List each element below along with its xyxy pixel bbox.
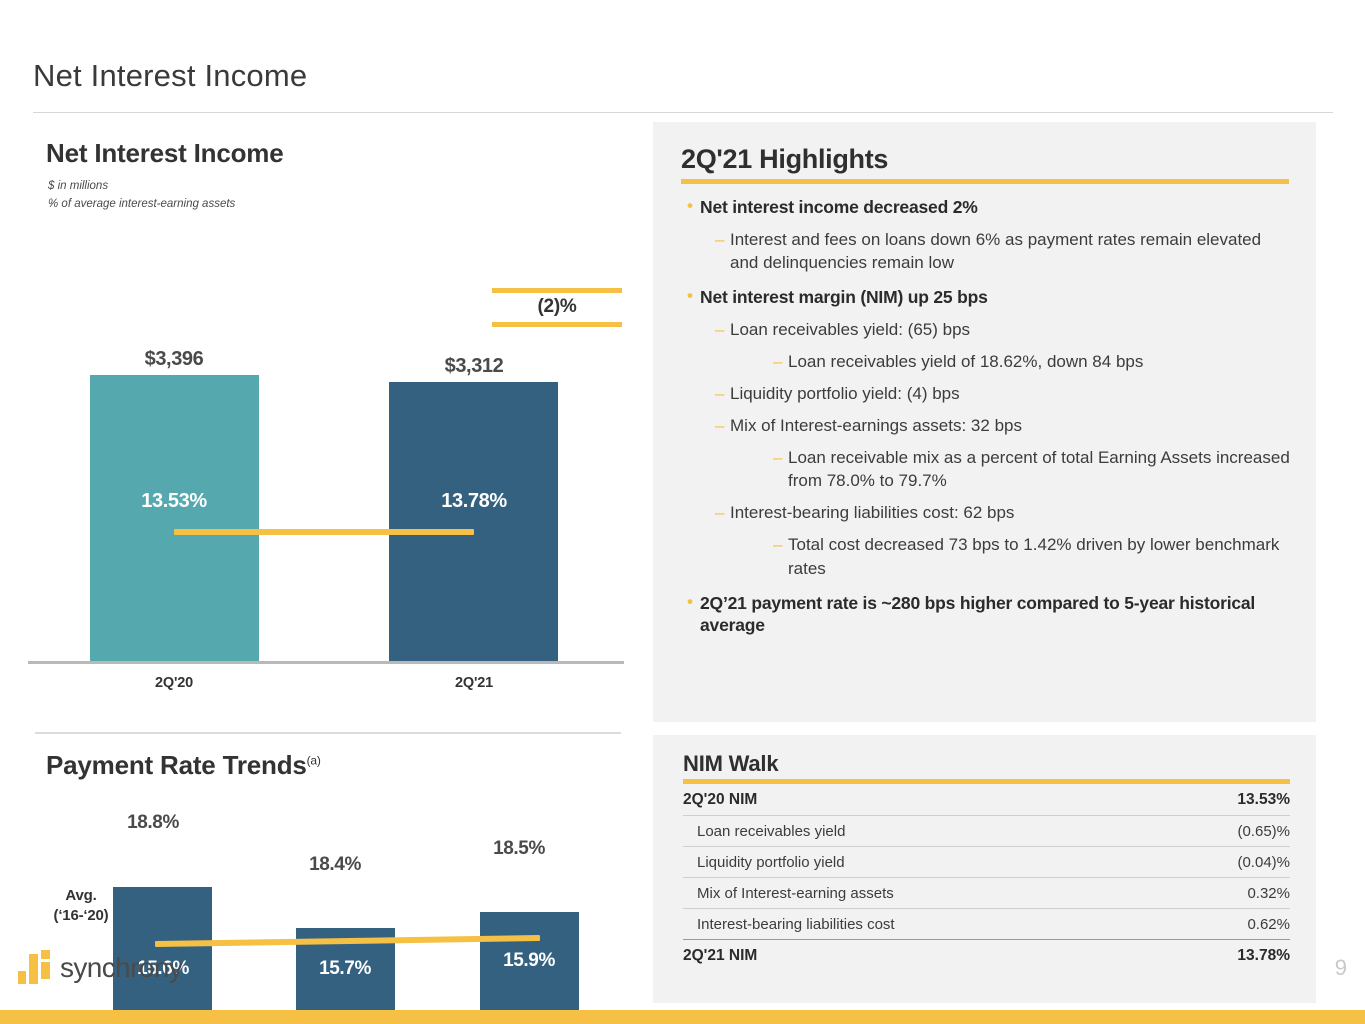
bar-avg-label: 15.9%: [454, 950, 604, 972]
row-value: 13.53%: [1169, 784, 1290, 816]
nim-walk-title: NIM Walk: [683, 751, 1290, 777]
bullet-item: Net interest margin (NIM) up 25 bps: [687, 286, 1290, 309]
synchrony-wordmark: synchrony: [60, 952, 182, 984]
payment-rate-panel-title: Payment Rate Trends(a): [46, 750, 321, 781]
bar-value-label: 18.5%: [444, 838, 594, 860]
nii-subtitle-line1: $ in millions: [48, 178, 108, 195]
nim-walk-panel: NIM Walk 2Q'20 NIM 13.53% Loan receivabl…: [653, 735, 1316, 1003]
bar-value-label: $3,396: [88, 348, 260, 371]
bullet-item: Liquidity portfolio yield: (4) bps: [715, 382, 1290, 405]
nii-panel-title: Net Interest Income: [46, 138, 284, 169]
x-axis-line: [28, 661, 624, 664]
bar-value-label: 18.4%: [260, 854, 410, 876]
nim-walk-table: 2Q'20 NIM 13.53% Loan receivables yield …: [683, 784, 1290, 971]
row-label: 2Q'20 NIM: [683, 784, 1169, 816]
nim-trend-line: [174, 529, 474, 535]
row-value: 0.62%: [1169, 909, 1290, 940]
bar-avg-label: 15.7%: [270, 958, 420, 980]
table-row: Interest-bearing liabilities cost 0.62%: [683, 909, 1290, 940]
left-column: Net Interest Income $ in millions % of a…: [0, 120, 650, 1000]
row-value: (0.04)%: [1169, 847, 1290, 878]
payment-rate-footnote-marker: (a): [307, 753, 321, 767]
highlights-bullet-list: Net interest income decreased 2% Interes…: [681, 196, 1290, 637]
bar-2q21: [389, 382, 558, 661]
bar-pct-label: 13.53%: [88, 490, 260, 513]
row-value: (0.65)%: [1169, 816, 1290, 847]
row-label: 2Q'21 NIM: [683, 940, 1169, 972]
net-interest-income-chart: $3,396 13.53% $3,312 13.78% 2Q'20 2Q'21: [0, 230, 650, 710]
row-label: Interest-bearing liabilities cost: [683, 909, 1169, 940]
table-row: Liquidity portfolio yield (0.04)%: [683, 847, 1290, 878]
table-row: Loan receivables yield (0.65)%: [683, 816, 1290, 847]
bullet-item: Interest and fees on loans down 6% as pa…: [715, 228, 1290, 274]
x-label-2q21: 2Q'21: [388, 675, 560, 691]
bullet-item: Interest-bearing liabilities cost: 62 bp…: [715, 501, 1290, 524]
bar-value-label: $3,312: [388, 355, 560, 378]
bar-2q20: [90, 375, 259, 661]
bullet-item: 2Q’21 payment rate is ~280 bps higher co…: [687, 592, 1290, 638]
highlights-underline: [681, 179, 1289, 184]
synchrony-logo-mark-icon: [18, 950, 52, 984]
highlights-panel: 2Q'21 Highlights Net interest income dec…: [653, 122, 1316, 722]
table-row: 2Q'20 NIM 13.53%: [683, 784, 1290, 816]
page-title: Net Interest Income: [33, 58, 307, 94]
bullet-item: Mix of Interest-earnings assets: 32 bps: [715, 414, 1290, 437]
bullet-item: Loan receivable mix as a percent of tota…: [773, 446, 1290, 492]
bar-value-label: 18.8%: [78, 812, 228, 834]
nii-subtitle-line2: % of average interest-earning assets: [48, 196, 235, 213]
row-label: Loan receivables yield: [683, 816, 1169, 847]
section-divider: [35, 732, 621, 734]
bullet-item: Loan receivables yield of 18.62%, down 8…: [773, 350, 1290, 373]
highlights-title: 2Q'21 Highlights: [681, 144, 1290, 175]
row-value: 13.78%: [1169, 940, 1290, 972]
page-number: 9: [1335, 955, 1347, 981]
row-value: 0.32%: [1169, 878, 1290, 909]
header-divider: [33, 112, 1333, 113]
bar-pct-label: 13.78%: [388, 490, 560, 513]
x-label-2q20: 2Q'20: [88, 675, 260, 691]
bullet-item: Total cost decreased 73 bps to 1.42% dri…: [773, 533, 1290, 579]
bullet-item: Loan receivables yield: (65) bps: [715, 318, 1290, 341]
synchrony-logo: synchrony: [18, 950, 218, 992]
bullet-item: Net interest income decreased 2%: [687, 196, 1290, 219]
table-row: Mix of Interest-earning assets 0.32%: [683, 878, 1290, 909]
row-label: Mix of Interest-earning assets: [683, 878, 1169, 909]
footer-accent-bar: [0, 1010, 1365, 1024]
table-row: 2Q'21 NIM 13.78%: [683, 940, 1290, 972]
payment-rate-title-text: Payment Rate Trends: [46, 750, 307, 780]
slide: Net Interest Income Net Interest Income …: [0, 0, 1365, 1024]
row-label: Liquidity portfolio yield: [683, 847, 1169, 878]
